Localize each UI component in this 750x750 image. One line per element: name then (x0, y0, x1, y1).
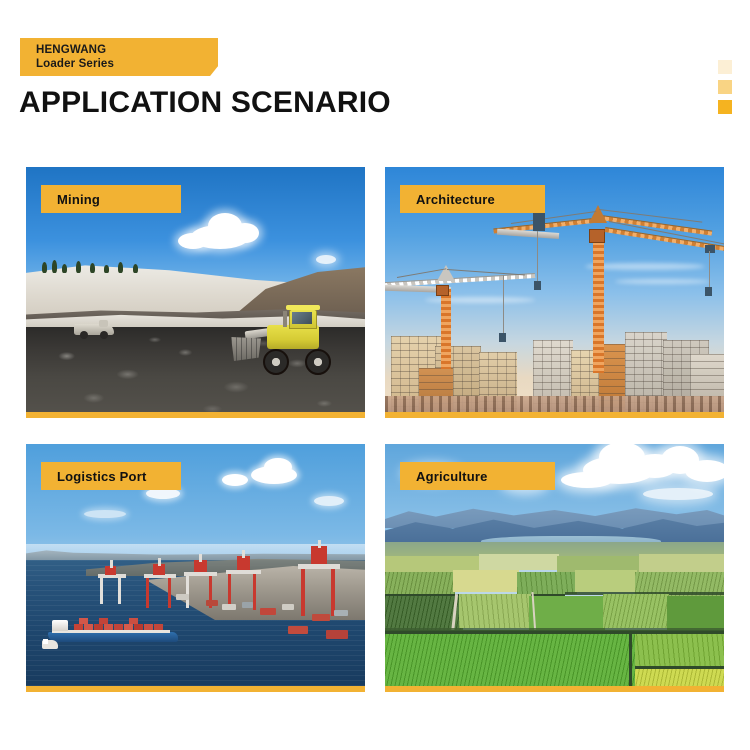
gantry-crane-1 (98, 560, 128, 604)
decor-square-solid-icon (718, 100, 732, 114)
mining-wheel-loader (231, 305, 341, 379)
card-label-text: Logistics Port (57, 469, 146, 484)
brand-badge: HENGWANG Loader Series (20, 38, 218, 76)
tug-boat (42, 640, 58, 649)
gantry-crane-2 (144, 558, 178, 608)
scenario-card-logistics-port[interactable]: Logistics Port (26, 444, 365, 692)
page-title: APPLICATION SCENARIO (19, 85, 391, 121)
card-label-agriculture: Agriculture (400, 462, 555, 490)
container-ship (48, 620, 178, 642)
decor-square-light-icon (718, 60, 732, 74)
card-accent-bar (26, 412, 365, 418)
card-label-architecture: Architecture (400, 185, 545, 213)
card-label-text: Mining (57, 192, 100, 207)
scenario-card-grid: Mining (26, 167, 724, 692)
brand-name: HENGWANG (36, 43, 218, 57)
card-accent-bar (385, 686, 724, 692)
page-header: HENGWANG Loader Series APPLICATION SCENA… (0, 0, 750, 150)
decor-squares-group (718, 60, 732, 120)
card-accent-bar (385, 412, 724, 418)
mining-haul-truck (74, 319, 114, 339)
scenario-card-architecture[interactable]: Architecture (385, 167, 724, 418)
card-label-text: Architecture (416, 192, 495, 207)
application-scenario-page: HENGWANG Loader Series APPLICATION SCENA… (0, 0, 750, 750)
gantry-crane-5 (298, 540, 342, 616)
brand-series: Loader Series (36, 57, 218, 71)
card-label-mining: Mining (41, 185, 181, 213)
card-label-text: Agriculture (416, 469, 488, 484)
gantry-crane-4 (226, 550, 262, 610)
scenario-card-mining[interactable]: Mining (26, 167, 365, 418)
scenario-card-agriculture[interactable]: Agriculture (385, 444, 724, 692)
tower-crane-right (595, 217, 724, 277)
card-accent-bar (26, 686, 365, 692)
decor-square-medium-icon (718, 80, 732, 94)
card-label-logistics-port: Logistics Port (41, 462, 181, 490)
